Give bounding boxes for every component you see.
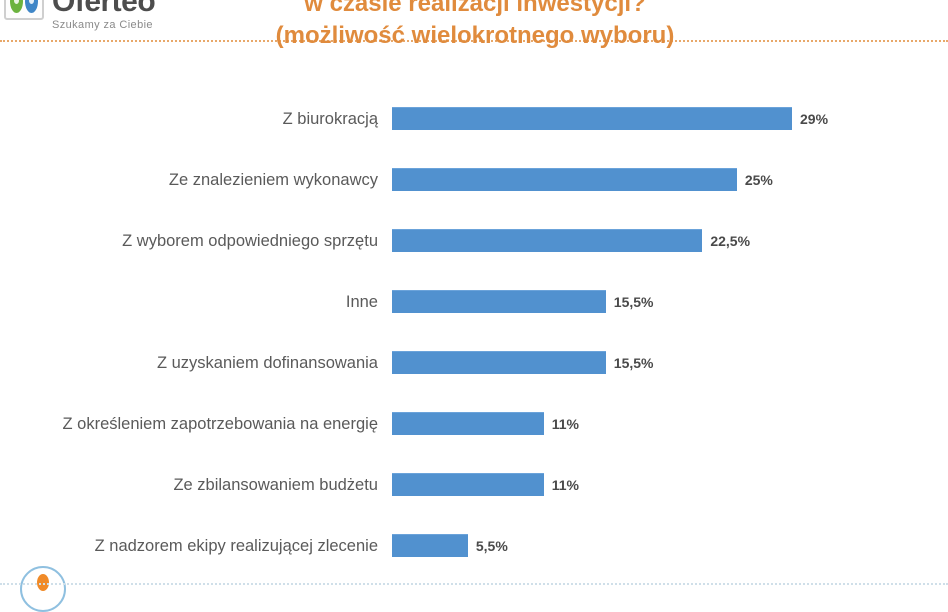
bar-value-label: 22,5%	[710, 233, 750, 249]
bar-category-label: Z biurokracją	[0, 109, 392, 129]
bar-value-label: 25%	[745, 172, 773, 188]
bar-fill	[392, 290, 606, 313]
bar-fill	[392, 107, 792, 130]
bar-row: Z biurokracją29%	[0, 88, 948, 149]
bar-track: 5,5%	[392, 515, 948, 576]
bar-track: 11%	[392, 454, 948, 515]
bar-track: 29%	[392, 88, 948, 149]
bar-value-label: 11%	[552, 477, 579, 493]
bar-value-label: 15,5%	[614, 355, 654, 371]
bar-value-label: 15,5%	[614, 294, 654, 310]
brand-tagline: Szukamy za Ciebie	[52, 18, 155, 32]
bar-chart: Z biurokracją29%Ze znalezieniem wykonawc…	[0, 88, 948, 576]
bar-category-label: Ze znalezieniem wykonawcy	[0, 170, 392, 190]
bar-track: 22,5%	[392, 210, 948, 271]
bar-value-label: 5,5%	[476, 538, 508, 554]
water-droplet-green-icon	[10, 0, 23, 13]
circle-pin-icon	[20, 566, 66, 612]
page-title-line-2: (możliwość wielokrotnego wyboru)	[150, 20, 800, 52]
bar-category-label: Z uzyskaniem dofinansowania	[0, 353, 392, 373]
bar-fill	[392, 473, 544, 496]
water-droplet-blue-icon	[25, 0, 38, 13]
page-title: w czasie realizacji inwestycji? (możliwo…	[150, 0, 800, 52]
bar-row: Inne15,5%	[0, 271, 948, 332]
brand-text: Oferteo Szukamy za Ciebie	[52, 0, 155, 32]
bar-row: Z nadzorem ekipy realizującej zlecenie5,…	[0, 515, 948, 576]
bar-value-label: 29%	[800, 111, 828, 127]
bar-track: 25%	[392, 149, 948, 210]
bar-fill	[392, 534, 468, 557]
logo-mark	[4, 0, 44, 20]
bar-category-label: Ze zbilansowaniem budżetu	[0, 475, 392, 495]
page-title-line-1: w czasie realizacji inwestycji?	[150, 0, 800, 20]
bar-category-label: Z wyborem odpowiedniego sprzętu	[0, 231, 392, 251]
bar-track: 11%	[392, 393, 948, 454]
bar-value-label: 11%	[552, 416, 579, 432]
bar-fill	[392, 229, 702, 252]
bar-row: Z uzyskaniem dofinansowania15,5%	[0, 332, 948, 393]
bar-category-label: Z nadzorem ekipy realizującej zlecenie	[0, 536, 392, 556]
bar-fill	[392, 168, 737, 191]
bar-row: Ze znalezieniem wykonawcy25%	[0, 149, 948, 210]
bar-fill	[392, 351, 606, 374]
divider-bottom	[0, 583, 948, 585]
bar-track: 15,5%	[392, 271, 948, 332]
bar-fill	[392, 412, 544, 435]
bar-category-label: Z określeniem zapotrzebowania na energię	[0, 414, 392, 434]
brand-logo: Oferteo Szukamy za Ciebie	[4, 0, 155, 32]
bar-category-label: Inne	[0, 292, 392, 312]
bar-row: Z wyborem odpowiedniego sprzętu22,5%	[0, 210, 948, 271]
bar-track: 15,5%	[392, 332, 948, 393]
bar-row: Ze zbilansowaniem budżetu11%	[0, 454, 948, 515]
brand-name: Oferteo	[52, 0, 155, 16]
bar-row: Z określeniem zapotrzebowania na energię…	[0, 393, 948, 454]
